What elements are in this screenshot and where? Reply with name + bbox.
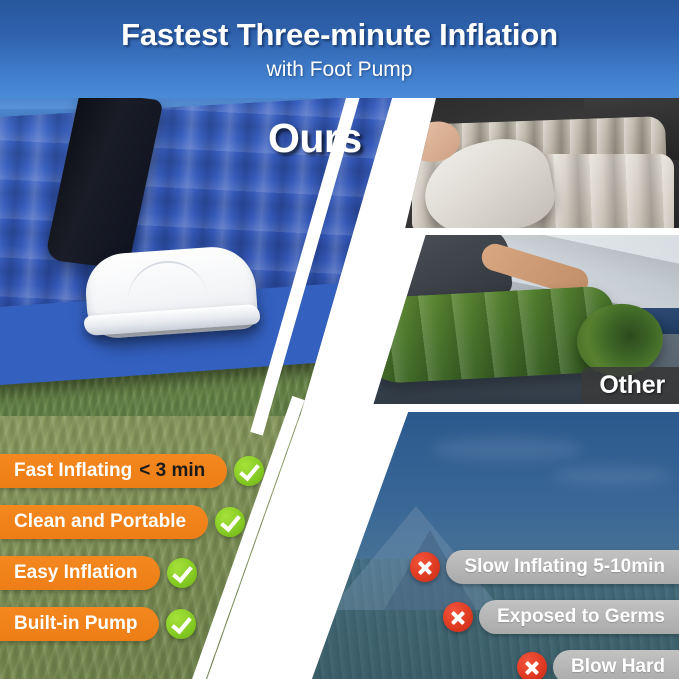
con-pill: Blow Hard: [553, 650, 679, 679]
x-icon: [517, 652, 547, 679]
pros-list: Fast Inflating < 3 min Clean and Portabl…: [0, 454, 300, 658]
x-icon: [443, 602, 473, 632]
list-item: Slow Inflating 5-10min: [359, 550, 679, 584]
pro-pill: Fast Inflating < 3 min: [0, 454, 227, 488]
divider-horizontal-top-right: [366, 228, 679, 235]
photo-collage: Ours Other: [0, 98, 679, 679]
divider-horizontal-bottom-right: [330, 404, 679, 412]
list-item: Blow Hard: [359, 650, 679, 679]
con-label: Blow Hard: [571, 656, 665, 678]
list-item: Easy Inflation: [0, 556, 300, 590]
panel-car-inflatable-photo: [404, 98, 679, 233]
check-icon: [234, 456, 264, 486]
check-icon: [167, 558, 197, 588]
con-pill: Slow Inflating 5-10min: [446, 550, 679, 584]
con-label: Slow Inflating 5-10min: [464, 556, 665, 578]
label-other: Other: [581, 367, 679, 405]
con-label: Exposed to Germs: [497, 606, 665, 628]
panel-sleeping-bag-photo: Other: [372, 234, 679, 409]
pro-label: Easy Inflation: [14, 562, 138, 584]
pro-pill: Clean and Portable: [0, 505, 208, 539]
page-title: Fastest Three-minute Inflation: [0, 17, 679, 53]
list-item: Fast Inflating < 3 min: [0, 454, 300, 488]
x-icon: [410, 552, 440, 582]
list-item: Built-in Pump: [0, 607, 300, 641]
pro-pill: Built-in Pump: [0, 607, 159, 641]
pro-label: Clean and Portable: [14, 511, 186, 533]
check-icon: [215, 507, 245, 537]
check-icon: [166, 609, 196, 639]
con-pill: Exposed to Germs: [479, 600, 679, 634]
pro-label: Built-in Pump: [14, 613, 137, 635]
pro-label: Fast Inflating: [14, 460, 132, 482]
pro-accent: < 3 min: [139, 460, 205, 482]
product-comparison-infographic: Fastest Three-minute Inflation with Foot…: [0, 0, 679, 679]
list-item: Exposed to Germs: [359, 600, 679, 634]
pro-pill: Easy Inflation: [0, 556, 160, 590]
page-subtitle: with Foot Pump: [0, 58, 679, 82]
header-banner: Fastest Three-minute Inflation with Foot…: [0, 0, 679, 98]
cons-list: Slow Inflating 5-10min Exposed to Germs …: [359, 550, 679, 679]
